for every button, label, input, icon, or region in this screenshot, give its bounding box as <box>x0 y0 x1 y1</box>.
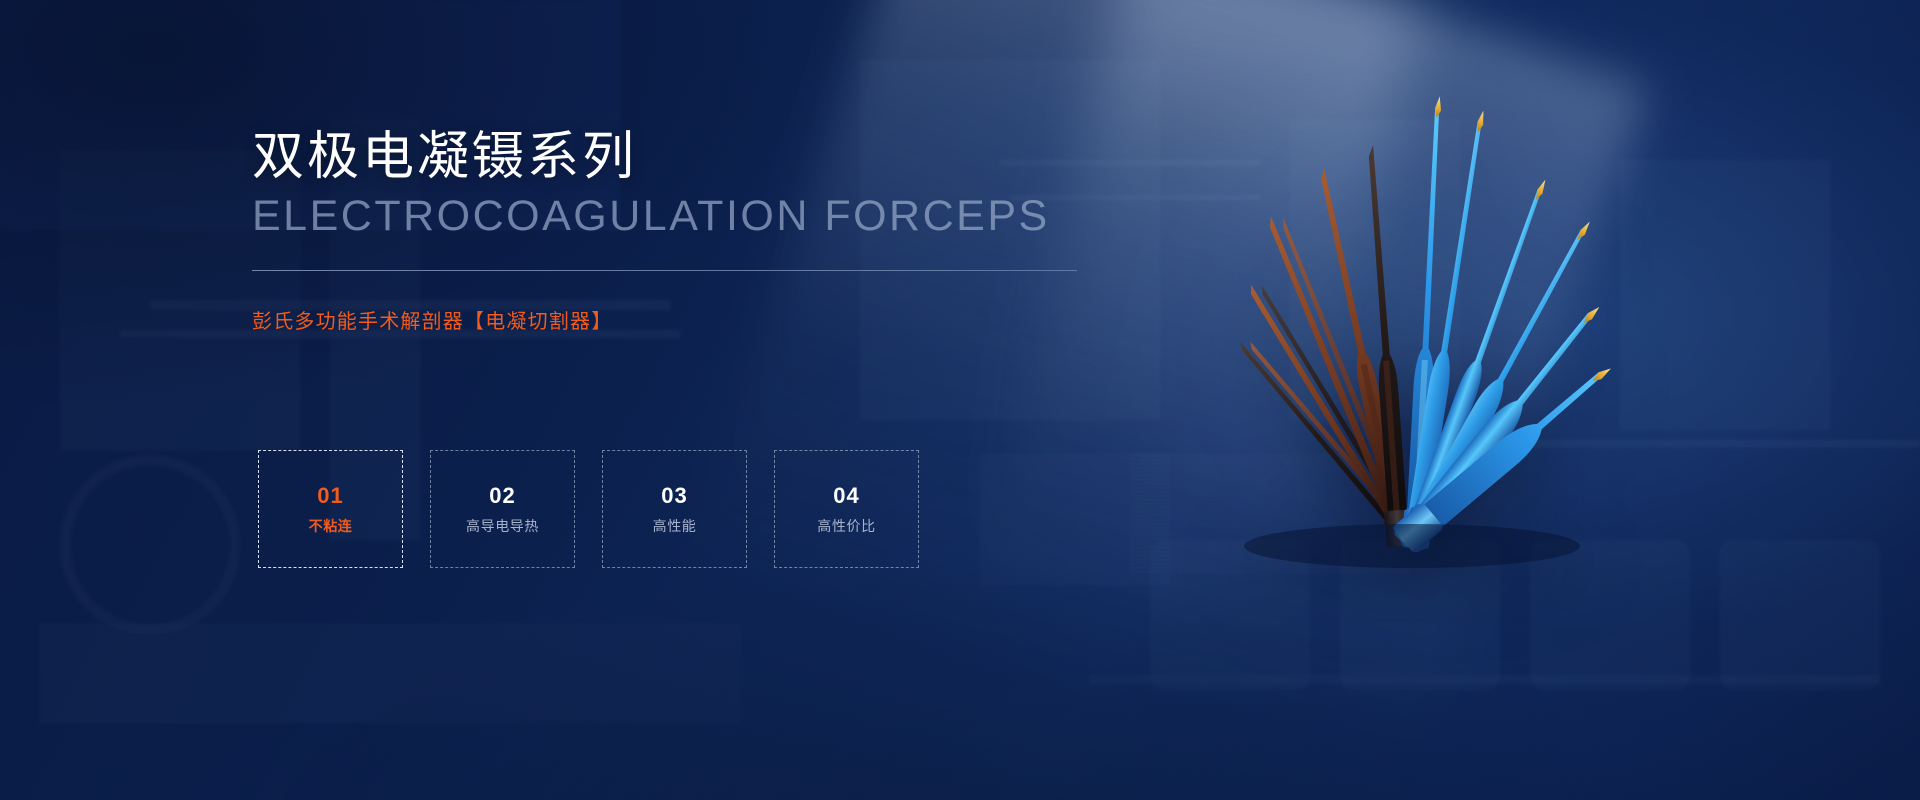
feature-label: 高导电导热 <box>466 519 539 533</box>
feature-card-03[interactable]: 03 高性能 <box>602 450 747 568</box>
feature-number: 01 <box>317 485 343 507</box>
page-title: 双极电凝镊系列 <box>252 128 1152 186</box>
forceps-blue-group <box>1392 96 1621 554</box>
feature-card-02[interactable]: 02 高导电导热 <box>430 450 575 568</box>
feature-label: 不粘连 <box>309 519 353 533</box>
feature-card-01[interactable]: 01 不粘连 <box>258 450 403 568</box>
feature-card-04[interactable]: 04 高性价比 <box>774 450 919 568</box>
banner-stage: 双极电凝镊系列 ELECTROCOAGULATION FORCEPS 彭氏多功能… <box>0 0 1920 800</box>
forceps-dark-group <box>1235 144 1420 548</box>
feature-number: 04 <box>833 485 859 507</box>
feature-label: 高性价比 <box>817 519 875 533</box>
product-image-forceps-fan <box>1090 60 1730 620</box>
banner-copy: 双极电凝镊系列 ELECTROCOAGULATION FORCEPS 彭氏多功能… <box>252 128 1152 334</box>
feature-list: 01 不粘连 02 高导电导热 03 高性能 04 高性价比 <box>258 450 919 568</box>
feature-label: 高性能 <box>653 519 697 533</box>
divider-line <box>252 270 1077 271</box>
feature-number: 02 <box>489 485 515 507</box>
page-subtitle-english: ELECTROCOAGULATION FORCEPS <box>252 192 1152 240</box>
product-tagline: 彭氏多功能手术解剖器【电凝切割器】 <box>252 305 1152 334</box>
feature-number: 03 <box>661 485 687 507</box>
